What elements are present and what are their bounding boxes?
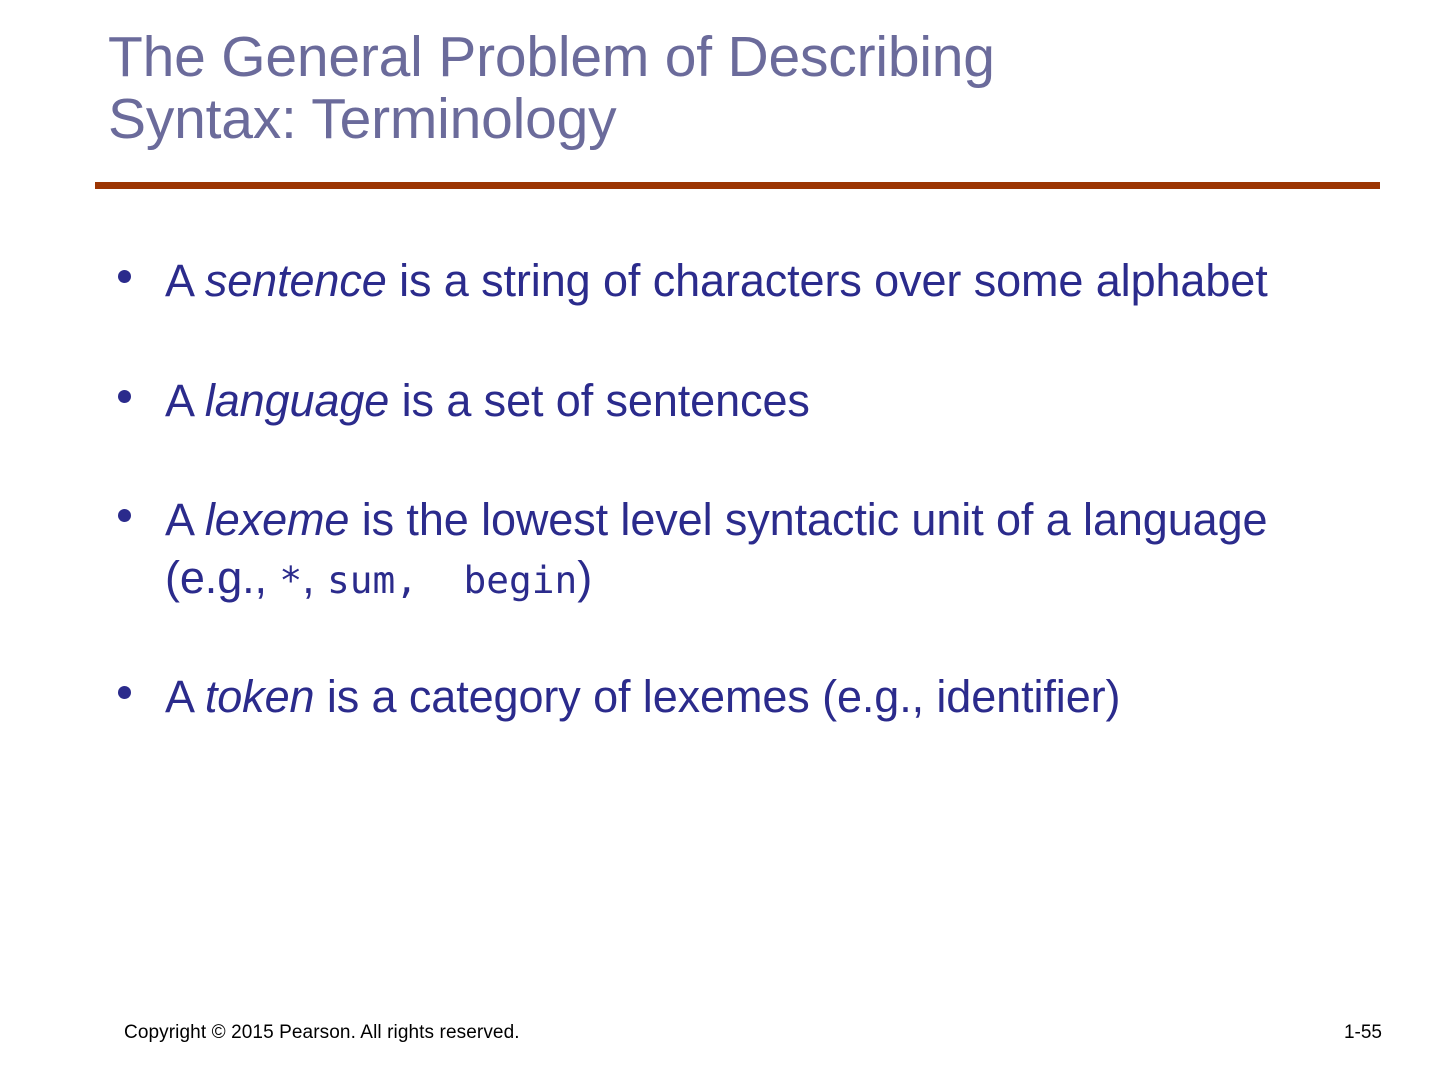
bullet-lead: A [165,671,205,722]
bullet-dot-icon [118,270,131,283]
bullet-mid: , [302,552,327,603]
bullet-rest: is a string of characters over some alph… [387,255,1268,306]
bullet-term-lexeme: lexeme [205,494,349,545]
bullet-tail: ) [577,552,592,603]
bullet-list: A sentence is a string of characters ove… [108,252,1373,726]
footer-page-number: 1-55 [1344,1022,1382,1044]
list-item-language: A language is a set of sentences [108,372,1373,430]
page-title: The General Problem of Describing Syntax… [108,26,1388,150]
bullet-lead: A [165,494,205,545]
footer-copyright: Copyright © 2015 Pearson. All rights res… [124,1022,520,1044]
code-sample-asterisk: * [279,558,302,602]
list-item-sentence: A sentence is a string of characters ove… [108,252,1373,310]
list-item-text: A language is a set of sentences [165,372,1373,430]
bullet-dot-icon [118,390,131,403]
bullet-term-sentence: sentence [205,255,387,306]
list-item-text: A lexeme is the lowest level syntactic u… [165,491,1373,606]
bullet-lead: A [165,255,205,306]
bullet-term-language: language [205,375,389,426]
slide: The General Problem of Describing Syntax… [0,0,1440,1080]
list-item-lexeme: A lexeme is the lowest level syntactic u… [108,491,1373,606]
bullet-dot-icon [118,509,131,522]
code-sample-keywords: sum, begin [327,558,577,602]
bullet-rest: is a set of sentences [389,375,810,426]
title-divider-rule [95,182,1380,189]
bullet-rest: is a category of lexemes (e.g., identifi… [314,671,1120,722]
bullet-dot-icon [118,686,131,699]
bullet-lead: A [165,375,205,426]
bullet-term-token: token [205,671,315,722]
list-item-text: A sentence is a string of characters ove… [165,252,1373,310]
list-item-token: A token is a category of lexemes (e.g., … [108,668,1373,726]
list-item-text: A token is a category of lexemes (e.g., … [165,668,1373,726]
title-block: The General Problem of Describing Syntax… [108,26,1388,150]
